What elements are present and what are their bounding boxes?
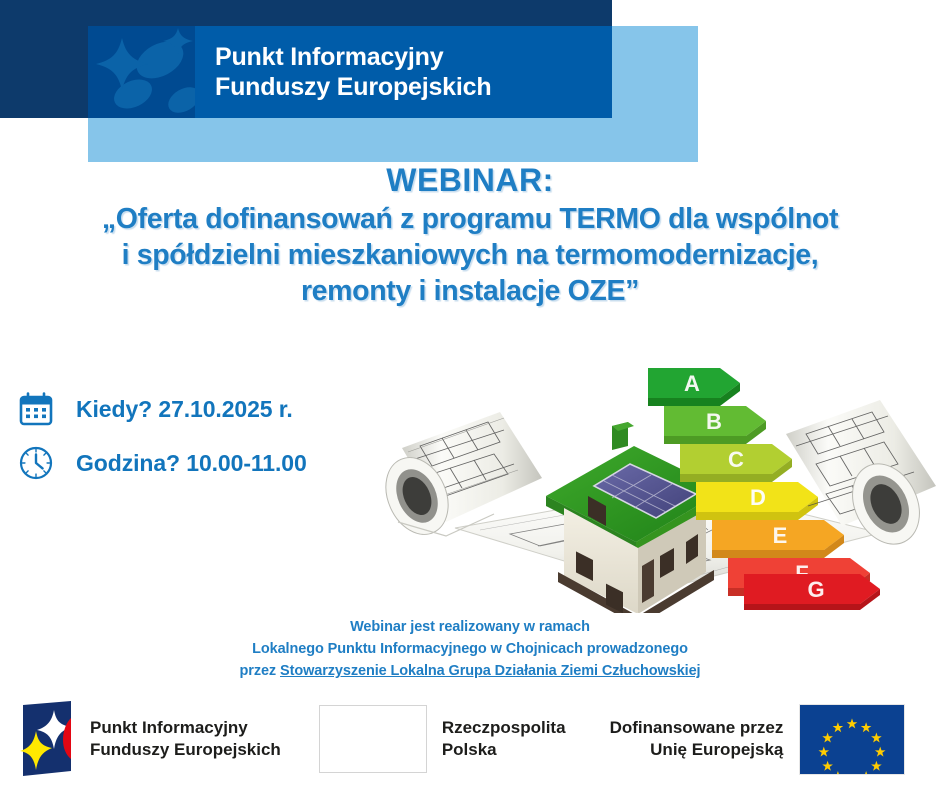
header-logo-title-line1: Punkt Informacyjny <box>215 42 612 73</box>
footer-poland-label-line1: Rzeczpospolita <box>442 718 566 737</box>
svg-text:D: D <box>750 485 766 510</box>
star-swirl-pattern-icon <box>88 26 195 118</box>
footer-eu-label: Dofinansowane przez Unię Europejską <box>610 717 784 762</box>
organiser-note-line1: Webinar jest realizowany w ramach <box>0 616 940 638</box>
event-details: Kiedy? 27.10.2025 r. Godzina? 10.00-11.0… <box>14 382 394 490</box>
calendar-icon <box>14 387 58 431</box>
funduszy-europejskich-logo-icon <box>14 701 76 777</box>
page-title-line4: remonty i instalacje OZE” <box>0 274 940 310</box>
svg-text:C: C <box>728 447 744 472</box>
footer-poland-block: Rzeczpospolita Polska <box>319 700 566 778</box>
header-logo-block: Punkt Informacyjny Funduszy Europejskich <box>88 26 612 118</box>
svg-text:A: A <box>684 371 700 396</box>
footer-fe-label-line2: Funduszy Europejskich <box>90 740 281 759</box>
page-title-line3: i spółdzielni mieszkaniowych na termomod… <box>0 238 940 274</box>
svg-text:E: E <box>773 523 788 548</box>
event-date-text: Kiedy? 27.10.2025 r. <box>76 396 293 423</box>
organiser-note: Webinar jest realizowany w ramach Lokaln… <box>0 616 940 682</box>
page-title-line2: „Oferta dofinansowań z programu TERMO dl… <box>0 202 940 238</box>
organiser-note-line3: przez Stowarzyszenie Lokalna Grupa Dział… <box>0 660 940 682</box>
organiser-note-line2: Lokalnego Punktu Informacyjnego w Chojni… <box>0 638 940 660</box>
footer-eu-label-line2: Unię Europejską <box>650 740 783 759</box>
event-time-text: Godzina? 10.00-11.00 <box>76 450 307 477</box>
event-time-row: Godzina? 10.00-11.00 <box>14 436 394 490</box>
footer-logo-bar: Punkt Informacyjny Funduszy Europejskich… <box>0 690 940 788</box>
svg-text:B: B <box>706 409 722 434</box>
event-date-row: Kiedy? 27.10.2025 r. <box>14 382 394 436</box>
header-logo-title: Punkt Informacyjny Funduszy Europejskich <box>195 42 612 103</box>
organiser-note-prefix: przez <box>240 663 281 679</box>
footer-eu-label-line1: Dofinansowane przez <box>610 718 784 737</box>
footer-fe-block: Punkt Informacyjny Funduszy Europejskich <box>0 700 281 778</box>
footer-fe-label: Punkt Informacyjny Funduszy Europejskich <box>90 717 281 762</box>
footer-poland-label: Rzeczpospolita Polska <box>442 717 566 762</box>
poland-flag-icon <box>319 705 427 773</box>
svg-text:G: G <box>807 577 824 602</box>
page-title-line1: WEBINAR: <box>0 160 940 200</box>
header-logo-title-line2: Funduszy Europejskich <box>215 72 612 103</box>
european-union-flag-icon <box>799 704 905 775</box>
footer-poland-label-line2: Polska <box>442 740 497 759</box>
clock-icon <box>14 441 58 485</box>
page-title: WEBINAR: „Oferta dofinansowań z programu… <box>0 160 940 310</box>
organiser-link[interactable]: Stowarzyszenie Lokalna Grupa Działania Z… <box>280 663 700 679</box>
energy-efficiency-house-illustration: A B C D <box>360 358 940 613</box>
footer-eu-block: Dofinansowane przez Unię Europejską <box>566 700 906 778</box>
poster-canvas: Punkt Informacyjny Funduszy Europejskich… <box>0 0 940 788</box>
footer-fe-label-line1: Punkt Informacyjny <box>90 718 248 737</box>
